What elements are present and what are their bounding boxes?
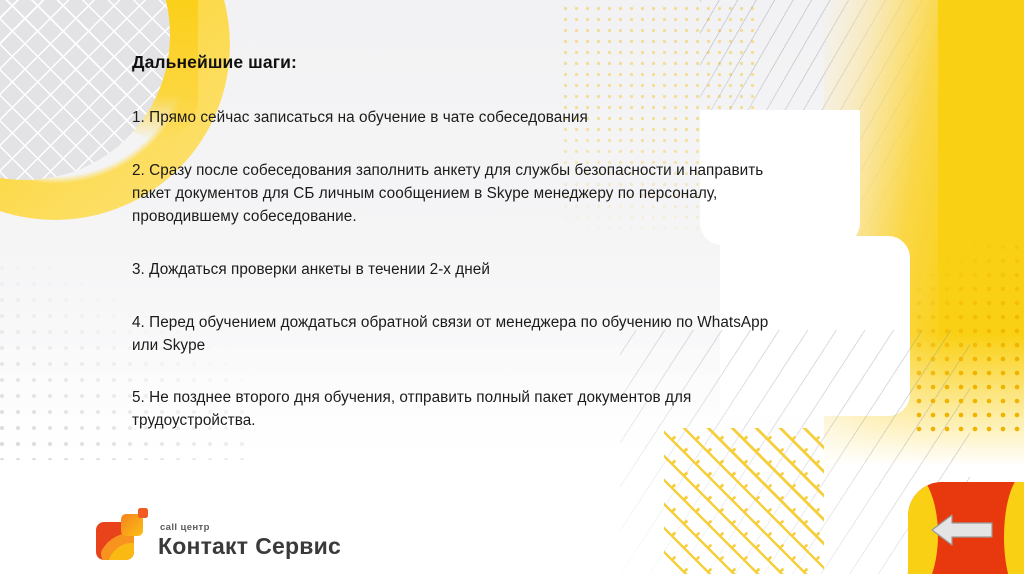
logo-company-name: КонтактСервис	[158, 535, 341, 558]
step-item-1: 1. Прямо сейчас записаться на обучение в…	[132, 107, 798, 130]
logo-mark-icon	[96, 508, 152, 560]
slide-content: Дальнейшие шаги: 1. Прямо сейчас записат…	[132, 52, 798, 433]
logo-name-part1: Контакт	[158, 533, 248, 559]
page-title: Дальнейшие шаги:	[132, 52, 798, 74]
step-item-2: 2. Сразу после собеседования заполнить а…	[132, 160, 798, 229]
step-item-3: 3. Дождаться проверки анкеты в течении 2…	[132, 259, 798, 282]
yellow-dot-triangle-right	[912, 240, 1024, 440]
company-logo: call центр КонтактСервис	[96, 508, 341, 560]
step-item-4: 4. Перед обучением дождаться обратной св…	[132, 312, 798, 358]
yellow-cross-pattern-bottom	[664, 428, 824, 574]
logo-square-small-icon	[138, 508, 148, 518]
logo-wordmark: call центр КонтактСервис	[158, 523, 341, 561]
back-navigation-block[interactable]	[908, 482, 1024, 574]
logo-tagline: call центр	[158, 523, 341, 533]
presentation-slide: Дальнейшие шаги: 1. Прямо сейчас записат…	[0, 0, 1024, 574]
back-arrow-icon[interactable]	[930, 512, 994, 548]
step-item-5: 5. Не позднее второго дня обучения, отпр…	[132, 387, 798, 433]
logo-name-part2: Сервис	[255, 533, 341, 559]
